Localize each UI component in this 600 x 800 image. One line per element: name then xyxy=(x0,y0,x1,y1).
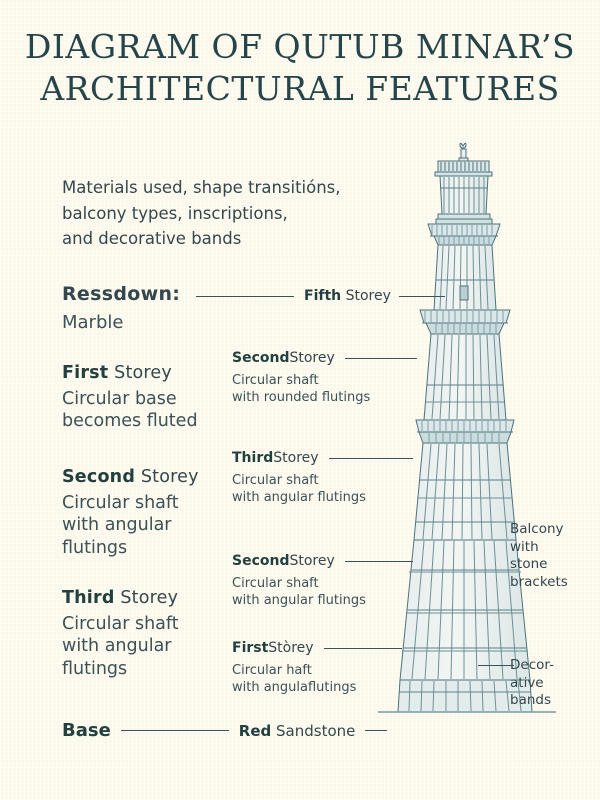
leader-line xyxy=(324,648,402,649)
balcony-brackets-line-4: brackets xyxy=(510,574,594,592)
mid-third-angular-head-rest: Storey xyxy=(273,450,318,466)
decorative-bands-line-2: ative xyxy=(510,675,594,693)
mid-second-rounded-head-strong: Second xyxy=(232,350,289,366)
third-storey-head-strong: Third xyxy=(62,588,115,608)
leader-stub-decorative xyxy=(478,655,514,674)
base-label: Base xyxy=(62,720,111,741)
callout-mid-second-angular: Second Storey Circular shaft with angula… xyxy=(232,553,413,610)
first-storey-head-rest: Storey xyxy=(108,363,172,383)
mid-first-angular-head-strong: First xyxy=(232,640,268,656)
base-material-strong: Red xyxy=(239,722,271,740)
leader-line xyxy=(196,296,294,297)
poster-canvas: DIAGRAM OF QUTUB MINAR’S ARCHITECTURAL F… xyxy=(0,0,600,800)
second-balcony xyxy=(416,420,514,443)
mid-third-angular-line-1: Circular shaft xyxy=(232,472,413,489)
mid-second-rounded-head-rest: Storey xyxy=(289,350,334,366)
page-title: DIAGRAM OF QUTUB MINAR’S ARCHITECTURAL F… xyxy=(0,26,600,110)
third-storey-head: Third Storey xyxy=(62,588,179,608)
mid-second-angular-head: Second Storey xyxy=(232,553,413,569)
second-storey-head-strong: Second xyxy=(62,467,135,487)
title-line-2: ARCHITECTURAL FEATURES xyxy=(0,68,600,110)
mid-second-angular-line-1: Circular shaft xyxy=(232,575,413,592)
leader-line xyxy=(478,665,514,666)
mid-first-angular-line-1: Circular haft xyxy=(232,662,402,679)
first-storey-head: First Storey xyxy=(62,363,198,383)
base-material-rest: Sandstone xyxy=(271,722,355,740)
second-storey-head: Second Storey xyxy=(62,467,199,487)
third-storey-shaft xyxy=(424,334,506,420)
callout-decorative-bands: Decor- ative bands xyxy=(510,657,594,710)
first-storey-body-line-2: becomes fluted xyxy=(62,410,198,432)
fifth-storey-strong: Fifth xyxy=(304,288,341,304)
leader-line xyxy=(329,458,413,459)
second-storey-body-line-2: with angular xyxy=(62,514,199,536)
tower-finial xyxy=(459,143,468,161)
leader-line xyxy=(399,296,445,297)
mid-second-angular-line-2: with angular flutings xyxy=(232,592,413,609)
callout-second-storey: Second Storey Circular shaft with angula… xyxy=(62,467,199,559)
third-balcony xyxy=(420,310,510,334)
second-storey-body-line-3: flutings xyxy=(62,537,199,559)
callout-base: Base Red Sandstone xyxy=(62,720,387,741)
first-storey-body-line-1: Circular base xyxy=(62,388,198,410)
mid-second-angular-head-strong: Second xyxy=(232,553,289,569)
callout-ressdown: Ressdown: Marble xyxy=(62,283,180,334)
balcony-brackets-line-3: stone xyxy=(510,556,594,574)
second-storey-body-line-1: Circular shaft xyxy=(62,492,199,514)
callout-third-storey: Third Storey Circular shaft with angular… xyxy=(62,588,179,680)
callout-fifth-storey: Fifth Storey xyxy=(196,288,445,304)
third-storey-head-rest: Storey xyxy=(115,588,179,608)
third-storey-body-line-1: Circular shaft xyxy=(62,613,179,635)
first-storey-head-strong: First xyxy=(62,363,108,383)
fifth-storey-rest: Storey xyxy=(341,288,391,304)
ressdown-head: Ressdown: xyxy=(62,283,180,305)
cupola-railing xyxy=(435,161,492,176)
third-storey-body-line-2: with angular xyxy=(62,635,179,657)
fifth-storey-drum xyxy=(436,176,492,224)
mid-first-angular-head: First Stòrey xyxy=(232,640,402,656)
callout-mid-first-angular: First Stòrey Circular haft with angulafl… xyxy=(232,640,402,697)
mid-third-angular-head: Third Storey xyxy=(232,450,413,466)
leader-line xyxy=(345,358,417,359)
title-line-1: DIAGRAM OF QUTUB MINAR’S xyxy=(0,26,600,68)
callout-mid-third-angular: Third Storey Circular shaft with angular… xyxy=(232,450,413,507)
leader-line xyxy=(345,561,413,562)
leader-line xyxy=(365,730,387,731)
callout-mid-second-rounded: Second Storey Circular shaft with rounde… xyxy=(232,350,417,407)
mid-third-angular-head-strong: Third xyxy=(232,450,273,466)
balcony-brackets-line-1: Balcony xyxy=(510,521,594,539)
fourth-balcony xyxy=(428,224,500,245)
mid-second-rounded-line-2: with rounded flutings xyxy=(232,389,417,406)
leader-line xyxy=(121,730,229,731)
mid-first-angular-line-2: with angulaflutings xyxy=(232,679,402,696)
decorative-bands-line-3: bands xyxy=(510,692,594,710)
mid-second-rounded-head: Second Storey xyxy=(232,350,417,366)
balcony-brackets-line-2: with xyxy=(510,539,594,557)
mid-second-angular-head-rest: Storey xyxy=(289,553,334,569)
mid-first-angular-head-rest: Stòrey xyxy=(268,640,313,656)
ressdown-body-line-1: Marble xyxy=(62,311,180,334)
decorative-bands-line-1: Decor- xyxy=(510,657,594,675)
callout-balcony-brackets: Balcony with stone brackets xyxy=(510,521,594,591)
mid-third-angular-line-2: with angular flutings xyxy=(232,489,413,506)
second-storey-head-rest: Storey xyxy=(135,467,199,487)
third-storey-body-line-3: flutings xyxy=(62,658,179,680)
callout-first-storey: First Storey Circular base becomes flute… xyxy=(62,363,198,433)
second-storey-shaft xyxy=(414,443,516,540)
mid-second-rounded-line-1: Circular shaft xyxy=(232,372,417,389)
